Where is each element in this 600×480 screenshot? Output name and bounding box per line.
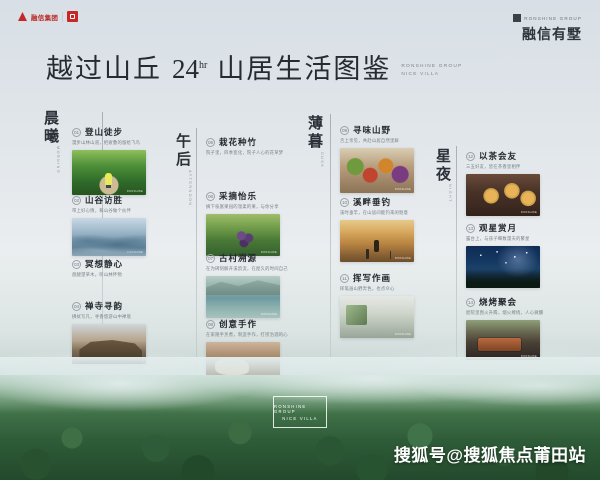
column-label-en-1: MORNING — [56, 146, 60, 174]
activity-thumbnail[interactable]: RONSHINE — [340, 148, 414, 193]
activity-item[interactable]: 05栽花种竹院子里，四季变化，院子人心的花草梦 — [206, 136, 283, 156]
activity-item[interactable]: 04禅寺寻韵拂拭写凡，寻香悠游山中禅境RONSHINE — [72, 300, 146, 364]
activity-description: 舌上亲见，共赴山居自然里鲜 — [340, 138, 414, 144]
activity-description: 院子里，四季变化，院子人心的花草梦 — [206, 150, 283, 156]
column-rule — [330, 114, 331, 366]
activity-number-badge: 12 — [466, 152, 475, 161]
activity-number-badge: 02 — [72, 196, 81, 205]
column-label-3: 薄暮 — [304, 115, 325, 151]
activity-item-head: 13观星赏月 — [466, 222, 540, 234]
activity-description: 在为碑刻解开溪韵流，在屋久的时间自己 — [206, 266, 288, 272]
activity-item-head: 02山谷访胜 — [72, 194, 146, 206]
activity-item-head: 06采摘怡乐 — [206, 190, 280, 202]
activity-description: 露台上，与孩子细数漫天的繁星 — [466, 236, 540, 242]
activity-title: 创意手作 — [219, 318, 257, 330]
activity-title: 寻味山野 — [353, 124, 391, 136]
thumbnail-caption: RONSHINE — [521, 211, 537, 214]
activity-item[interactable]: 13观星赏月露台上，与孩子细数漫天的繁星RONSHINE — [466, 222, 540, 288]
activity-description: 在家随手烹煮，制造手作，打捞治酒的心 — [206, 332, 288, 338]
activity-item-head: 01登山徒步 — [72, 126, 146, 138]
column-rule — [196, 128, 197, 374]
activity-description: 溪时垂竿，在山居间能钓来闲惬意 — [340, 210, 414, 216]
activity-title: 登山徒步 — [85, 126, 123, 138]
activity-description: 挥笔画山野奔色，也点众心 — [340, 286, 414, 292]
activity-number-badge: 09 — [340, 126, 349, 135]
activity-title: 挥写作画 — [353, 272, 391, 284]
activity-thumbnail[interactable]: RONSHINE — [72, 218, 146, 256]
activity-item-head: 12以茶会友 — [466, 150, 540, 162]
footer-logo-line2: NICE VILLA — [282, 416, 318, 421]
activity-thumbnail[interactable]: RONSHINE — [340, 220, 414, 262]
thumbnail-caption: RONSHINE — [261, 313, 277, 316]
activity-number-badge: 06 — [206, 192, 215, 201]
activity-title: 栽花种竹 — [219, 136, 257, 148]
activity-title: 古村溯源 — [219, 252, 257, 264]
activity-description: 盘腿望草木，听山林怀物 — [72, 272, 123, 278]
activity-description: 屋院里围火升腾，烟火缭绕，人心微醺 — [466, 310, 543, 316]
column-rule — [456, 146, 457, 358]
activity-item-head: 10溪畔垂钓 — [340, 196, 414, 208]
column-label-2: 午后 — [172, 133, 193, 169]
activity-title: 烧烤聚会 — [479, 296, 517, 308]
activity-number-badge: 07 — [206, 254, 215, 263]
activity-number-badge: 03 — [72, 260, 81, 269]
activity-item[interactable]: 11挥写作画挥笔画山野奔色，也点众心RONSHINE — [340, 272, 414, 338]
thumbnail-caption: RONSHINE — [127, 251, 143, 254]
activity-number-badge: 08 — [206, 320, 215, 329]
activity-item[interactable]: 01登山徒步漫步山林山道，把疲惫的留给飞鸟RONSHINE — [72, 126, 146, 195]
activity-number-badge: 05 — [206, 138, 215, 147]
activity-item-head: 07古村溯源 — [206, 252, 288, 264]
footer-logo-line1: RONSHINE GROUP — [274, 404, 326, 414]
activity-thumbnail[interactable]: RONSHINE — [466, 320, 540, 360]
column-label-4: 星夜 — [432, 148, 453, 184]
activity-item-head: 08创意手作 — [206, 318, 288, 330]
activity-title: 山谷访胜 — [85, 194, 123, 206]
thumbnail-caption: RONSHINE — [395, 257, 411, 260]
activity-number-badge: 01 — [72, 128, 81, 137]
activity-number-badge: 14 — [466, 298, 475, 307]
activity-thumbnail[interactable]: RONSHINE — [72, 150, 146, 195]
watermark: 搜狐号@搜狐焦点莆田站 — [394, 441, 586, 466]
activity-item[interactable]: 10溪畔垂钓溪时垂竿，在山居间能钓来闲惬意RONSHINE — [340, 196, 414, 262]
column-label-en-4: NIGHT — [448, 184, 452, 203]
activity-thumbnail[interactable]: RONSHINE — [466, 246, 540, 288]
activity-title: 以茶会友 — [479, 150, 517, 162]
activity-thumbnail[interactable]: RONSHINE — [340, 296, 414, 338]
activity-title: 冥想静心 — [85, 258, 123, 270]
activity-item-head: 03冥想静心 — [72, 258, 123, 270]
activity-item[interactable]: 02山谷访胜带上好心情，和山谷做个伙伴RONSHINE — [72, 194, 146, 256]
activity-title: 溪畔垂钓 — [353, 196, 391, 208]
activity-description: 拂拭写凡，寻香悠游山中禅境 — [72, 314, 146, 320]
poster-canvas: 融信集团 RONSHINE GROUP 融信有墅 越过山丘 24hr 山居生活图… — [0, 0, 600, 480]
activity-number-badge: 04 — [72, 302, 81, 311]
activity-item-head: 14烧烤聚会 — [466, 296, 543, 308]
activity-item-head: 11挥写作画 — [340, 272, 414, 284]
activity-title: 采摘怡乐 — [219, 190, 257, 202]
activity-number-badge: 13 — [466, 224, 475, 233]
activity-item[interactable]: 09寻味山野舌上亲见，共赴山居自然里鲜RONSHINE — [340, 124, 414, 193]
activity-item-head: 04禅寺寻韵 — [72, 300, 146, 312]
activity-number-badge: 10 — [340, 198, 349, 207]
thumbnail-caption: RONSHINE — [395, 188, 411, 191]
thumbnail-caption: RONSHINE — [521, 283, 537, 286]
activity-thumbnail[interactable]: RONSHINE — [206, 214, 280, 256]
activity-item[interactable]: 06采摘怡乐摘下枝富果园的温柔的果，与你分享RONSHINE — [206, 190, 280, 256]
activity-description: 漫步山林山道，把疲惫的留给飞鸟 — [72, 140, 146, 146]
activity-description: 三五好友，皆在茶香里相伴 — [466, 164, 540, 170]
activity-title: 观星赏月 — [479, 222, 517, 234]
activity-item-head: 05栽花种竹 — [206, 136, 283, 148]
activity-thumbnail[interactable]: RONSHINE — [466, 174, 540, 216]
activity-description: 摘下枝富果园的温柔的果，与你分享 — [206, 204, 280, 210]
footer-logo: RONSHINE GROUP NICE VILLA — [273, 396, 327, 428]
thumbnail-caption: RONSHINE — [127, 190, 143, 193]
activity-item[interactable]: 12以茶会友三五好友，皆在茶香里相伴RONSHINE — [466, 150, 540, 216]
activity-item-head: 09寻味山野 — [340, 124, 414, 136]
column-label-en-2: AFTERNOON — [188, 170, 192, 206]
activity-item[interactable]: 14烧烤聚会屋院里围火升腾，烟火缭绕，人心微醺RONSHINE — [466, 296, 543, 360]
activity-number-badge: 11 — [340, 274, 349, 283]
activity-description: 带上好心情，和山谷做个伙伴 — [72, 208, 146, 214]
thumbnail-caption: RONSHINE — [395, 333, 411, 336]
activity-item[interactable]: 07古村溯源在为碑刻解开溪韵流，在屋久的时间自己RONSHINE — [206, 252, 288, 318]
column-label-1: 晨曦 — [40, 110, 61, 146]
activity-item[interactable]: 03冥想静心盘腿望草木，听山林怀物 — [72, 258, 123, 278]
column-label-en-3: DUSK — [320, 152, 324, 168]
activity-thumbnail[interactable]: RONSHINE — [206, 276, 280, 318]
activity-title: 禅寺寻韵 — [85, 300, 123, 312]
